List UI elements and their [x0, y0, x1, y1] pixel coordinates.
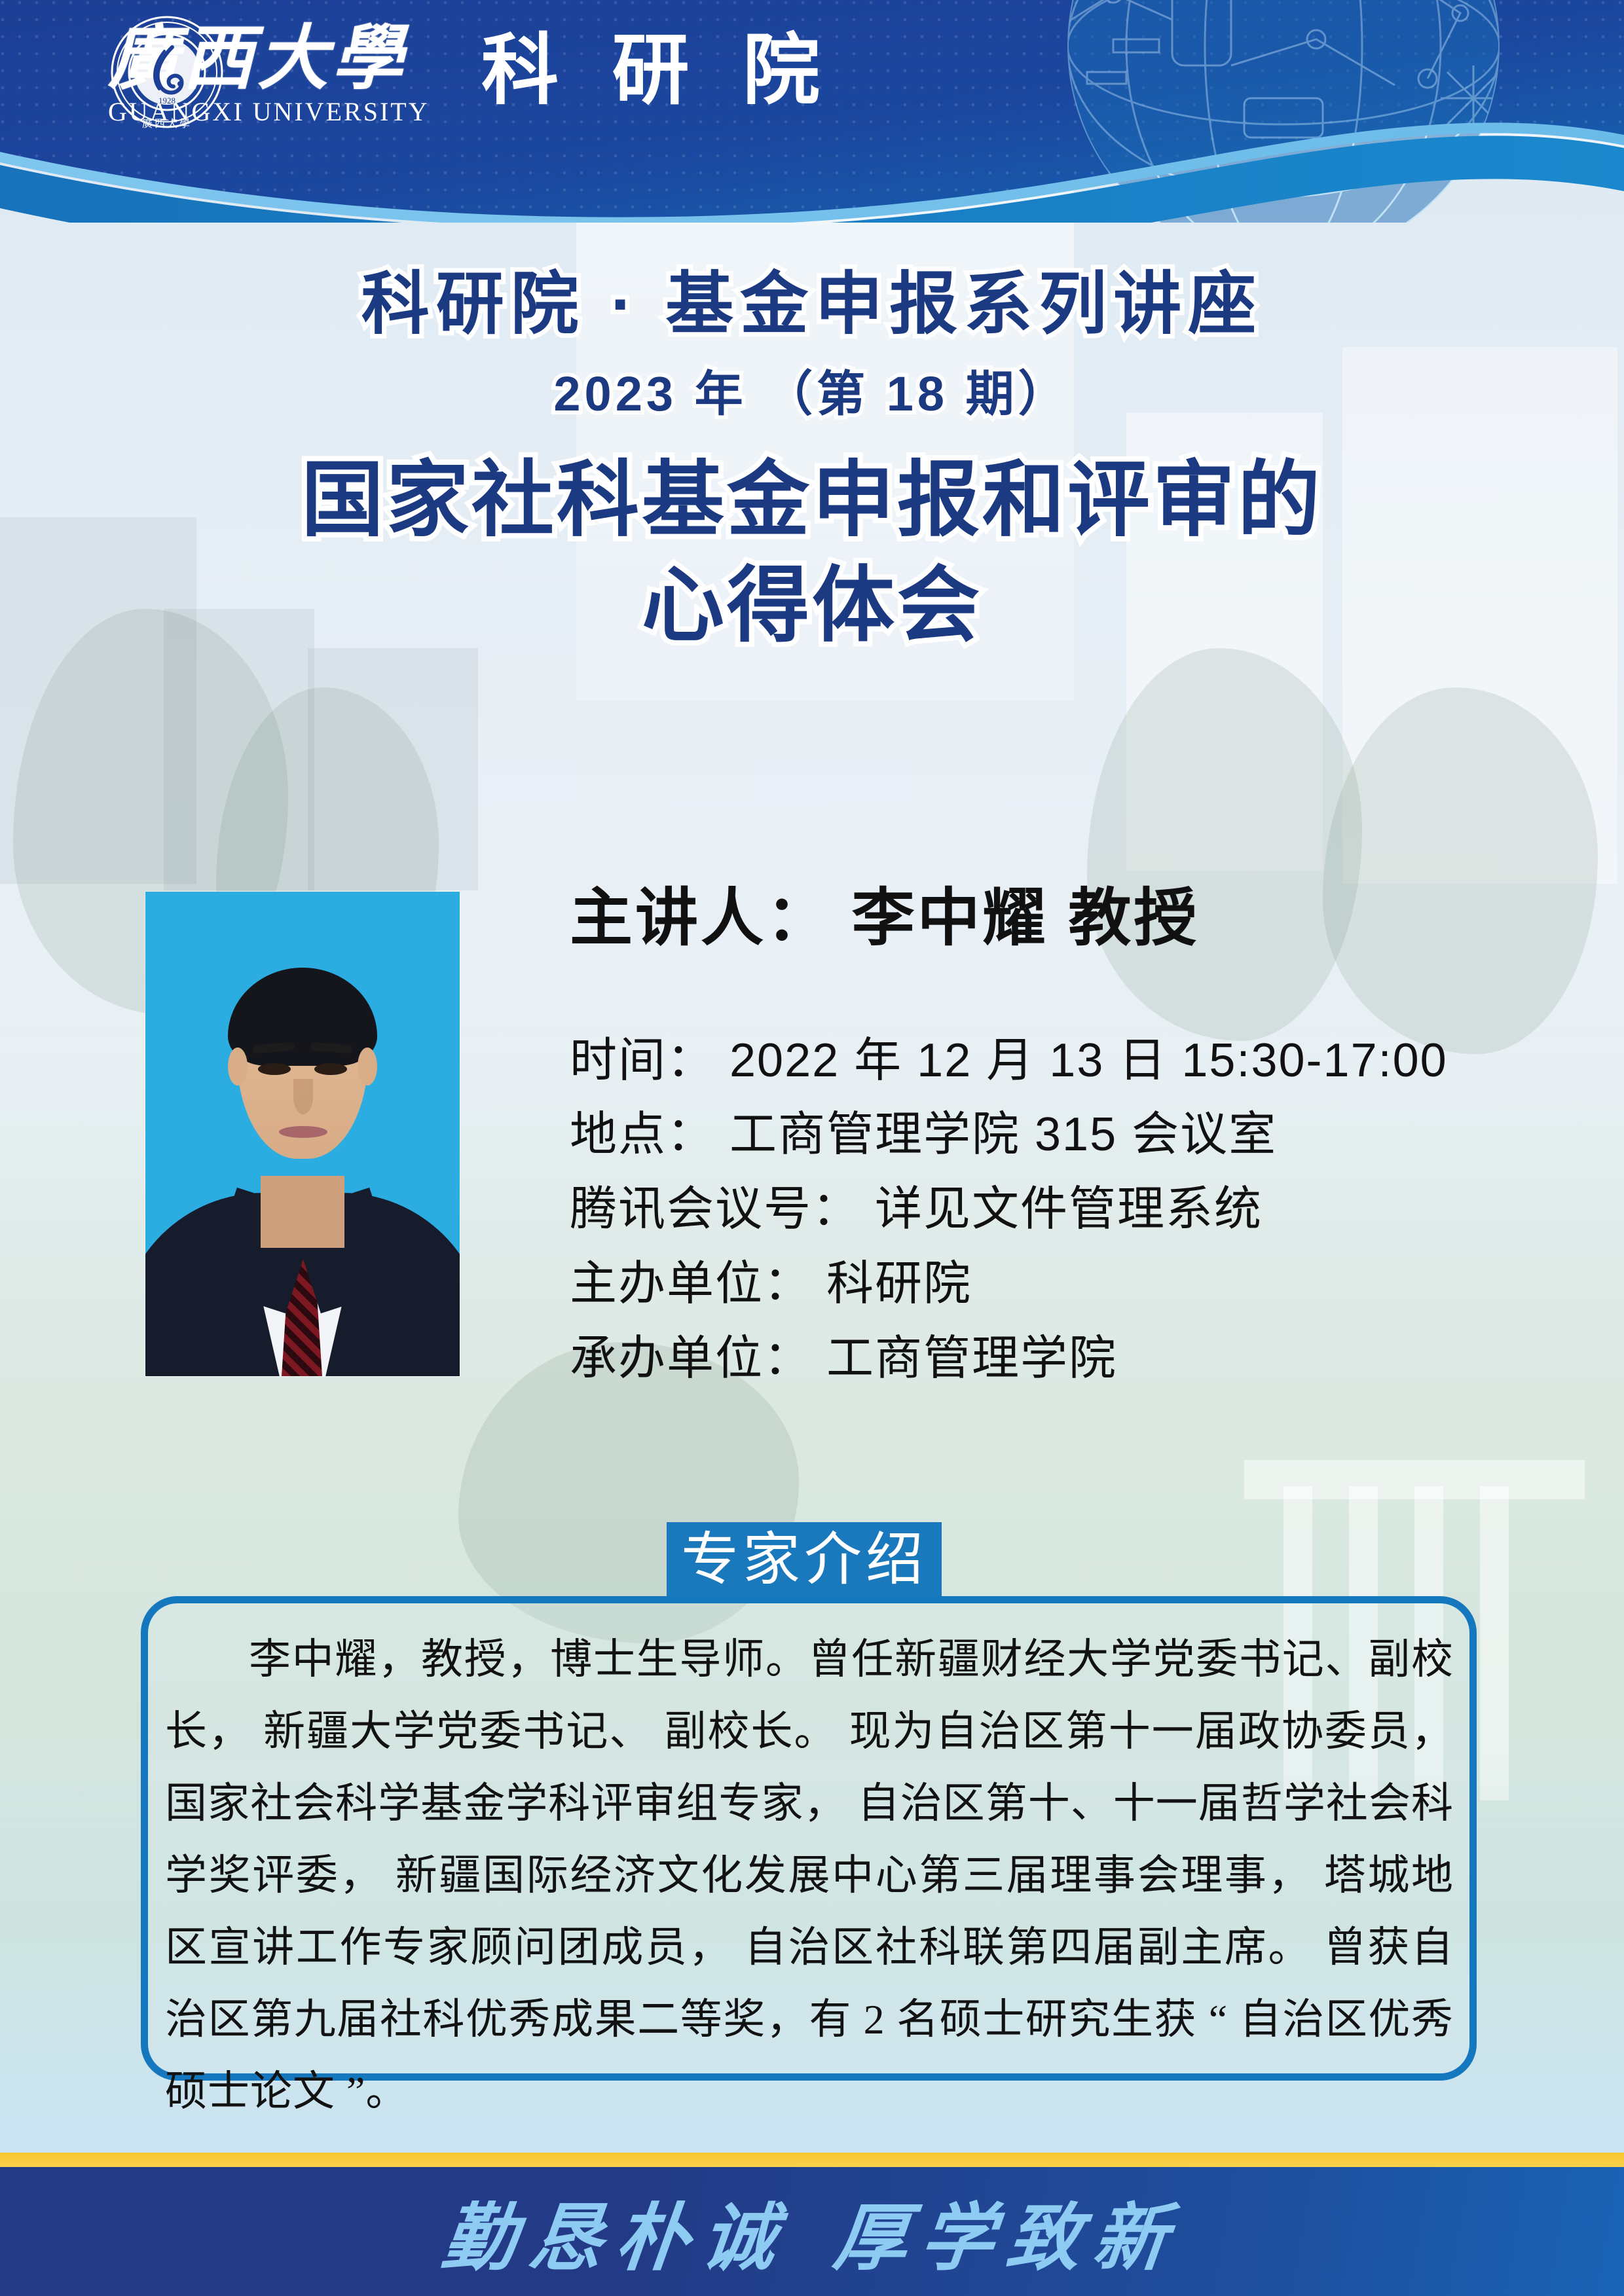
info-location: 地点： 工商管理学院 315 会议室	[570, 1098, 1591, 1173]
speaker-headline: 主讲人： 李中耀 教授	[570, 884, 1591, 953]
motto-part-1: 勤恳朴诚	[438, 2198, 792, 2280]
svg-text:廣西大學: 廣西大學	[142, 118, 192, 130]
series-title: 科研院 · 基金申报系列讲座	[0, 262, 1624, 347]
event-info: 主讲人： 李中耀 教授 时间： 2022 年 12 月 13 日 15:30-1…	[570, 884, 1591, 1396]
info-co-organizer: 承办单位： 工商管理学院	[570, 1322, 1591, 1396]
issue-subtitle: 2023 年 （第 18 期）	[0, 364, 1624, 425]
poster-root: 1928 廣西大學 廣西大學 GUANGXI UNIVERSITY 科 研 院 …	[0, 0, 1624, 2296]
department-name: 科 研 院	[481, 12, 837, 132]
portrait-ear-left	[228, 1048, 248, 1085]
title-block: 科研院 · 基金申报系列讲座 2023 年 （第 18 期） 国家社科基金申报和…	[0, 262, 1624, 658]
motto-part-2: 厚学致新	[830, 2198, 1184, 2280]
poster-footer: 勤恳朴诚厚学致新	[0, 2167, 1624, 2296]
portrait-ear-right	[358, 1048, 377, 1085]
portrait-eye-right	[314, 1063, 347, 1075]
portrait-hair	[228, 968, 377, 1066]
university-motto: 勤恳朴诚厚学致新	[437, 2179, 1186, 2285]
bg-pediment	[1244, 1460, 1585, 1499]
footer-gold-rule	[0, 2153, 1624, 2167]
expert-bio-text: 李中耀，教授，博士生导师。曾任新疆财经大学党委书记、副校长， 新疆大学党委书记、…	[165, 1624, 1454, 2128]
portrait-nose	[293, 1079, 313, 1114]
info-time: 时间： 2022 年 12 月 13 日 15:30-17:00	[570, 1024, 1591, 1099]
main-title-line2: 心得体会	[0, 553, 1624, 658]
info-meeting-id: 腾讯会议号： 详见文件管理系统	[570, 1173, 1591, 1247]
expert-intro-badge-label: 专家介绍	[681, 1532, 927, 1590]
svg-text:1928: 1928	[158, 96, 175, 105]
info-organizer: 主办单位： 科研院	[570, 1247, 1591, 1322]
portrait-neck	[261, 1176, 344, 1248]
portrait-eye-left	[258, 1063, 291, 1075]
main-title-line1: 国家社科基金申报和评审的	[0, 447, 1624, 553]
expert-intro-badge: 专家介绍	[667, 1522, 942, 1599]
portrait-mouth	[279, 1126, 327, 1138]
university-seal-icon: 1928 廣西大學	[108, 12, 226, 133]
speaker-portrait	[145, 892, 460, 1376]
poster-header: 1928 廣西大學 廣西大學 GUANGXI UNIVERSITY 科 研 院	[0, 0, 1624, 223]
